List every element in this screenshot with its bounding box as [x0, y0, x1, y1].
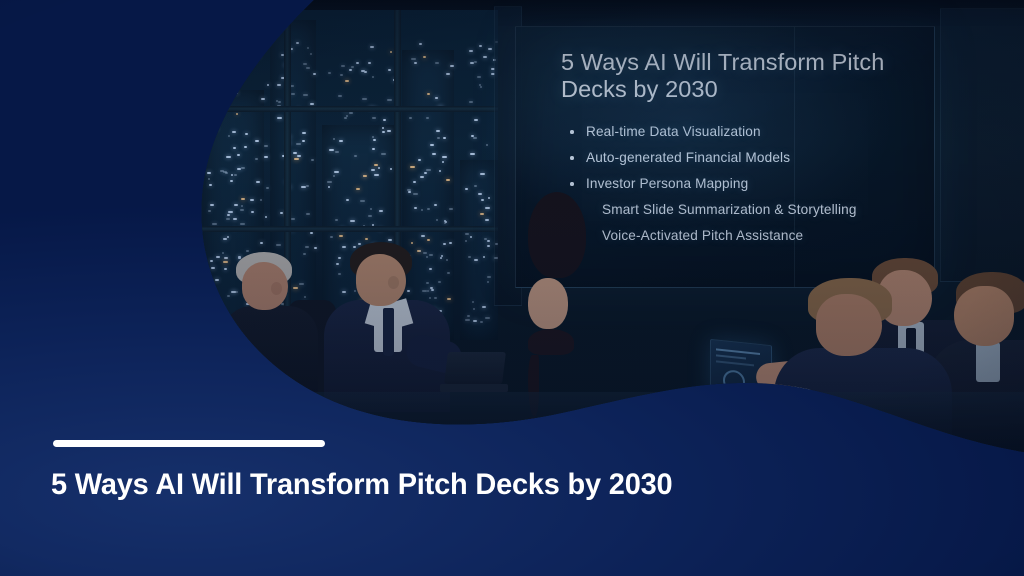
face — [816, 294, 882, 356]
deck-bullet-item: Real-time Data Visualization — [566, 125, 926, 139]
hair — [528, 192, 586, 278]
bullet-dot-icon — [570, 182, 574, 186]
presenter — [528, 192, 636, 402]
hair-front — [528, 329, 574, 355]
window-mullion — [198, 106, 498, 112]
deck-bullet-item: Investor Persona Mapping — [566, 177, 926, 191]
deck-bullet-label: Investor Persona Mapping — [586, 176, 748, 191]
ear — [271, 282, 282, 295]
face — [528, 278, 568, 329]
laptop-base — [440, 384, 508, 392]
face — [954, 286, 1014, 346]
laptop-lid — [444, 352, 506, 384]
page-title: 5 Ways AI Will Transform Pitch Decks by … — [51, 466, 900, 504]
ear — [388, 276, 399, 289]
window-mullion — [198, 226, 498, 232]
wall-panel — [940, 8, 1024, 282]
deck-title: 5 Ways AI Will Transform Pitch Decks by … — [561, 49, 891, 104]
attendee-man-at-laptop-left — [330, 242, 450, 412]
accent-rule — [53, 440, 325, 447]
bullet-dot-icon — [570, 130, 574, 134]
bullet-dot-icon — [570, 156, 574, 160]
necktie — [383, 308, 394, 356]
slide-root: 5 Ways AI Will Transform Pitch Decks by … — [0, 0, 1024, 576]
deck-bullet-label: Real-time Data Visualization — [586, 124, 761, 139]
deck-bullet-label: Smart Slide Summarization & Storytelling — [602, 202, 857, 217]
shirt — [976, 342, 1000, 382]
deck-bullet-label: Auto-generated Financial Models — [586, 150, 790, 165]
laptop-left — [440, 352, 506, 392]
deck-bullet-item: Auto-generated Financial Models — [566, 151, 926, 165]
